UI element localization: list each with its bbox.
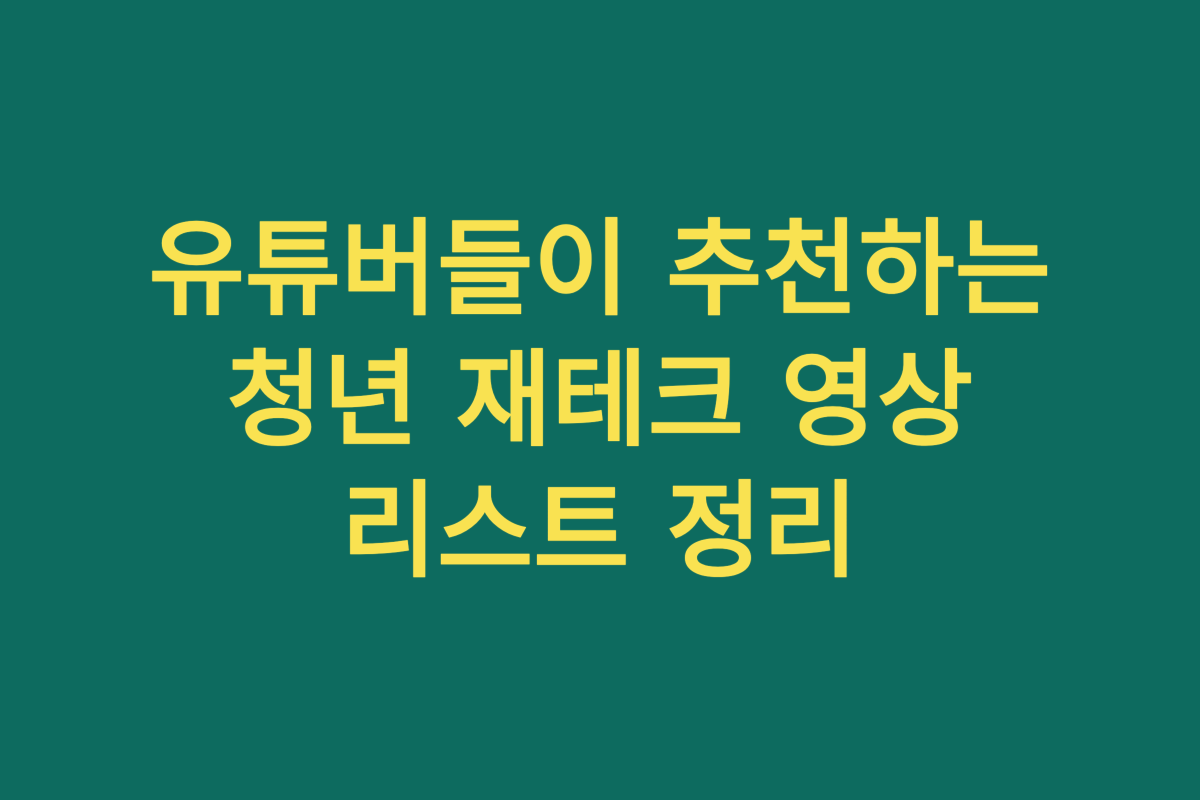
page-title: 유튜버들이 추천하는 청년 재테크 영상 리스트 정리 xyxy=(95,204,1105,597)
banner-card: 유튜버들이 추천하는 청년 재테크 영상 리스트 정리 xyxy=(0,0,1200,800)
